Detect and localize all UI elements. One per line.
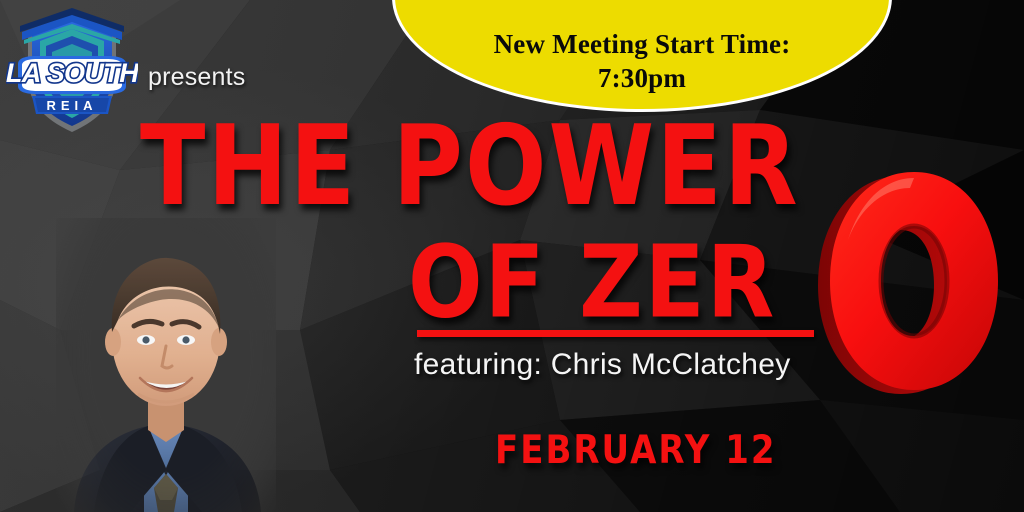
logo-primary-text: LA SOUTH [6,58,138,88]
event-date: FEBRUARY 12 [495,431,777,470]
headline-line-1: THE POWER [140,112,800,223]
headline-underline [417,330,814,337]
headline-line-2: OF ZER [408,233,776,333]
start-time-line1: New Meeting Start Time: [494,28,791,61]
start-time-line2: 7:30pm [598,62,686,95]
logo-secondary-text: REIA [46,98,97,113]
speaker-portrait [56,218,276,512]
event-promo-banner: LA SOUTH REIA presents New Meeting Start… [0,0,1024,512]
presents-label: presents [148,63,246,92]
featuring-label: featuring: Chris McClatchey [414,348,791,382]
la-south-reia-logo[interactable]: LA SOUTH REIA [6,6,138,138]
big-zero-graphic [806,168,1021,403]
